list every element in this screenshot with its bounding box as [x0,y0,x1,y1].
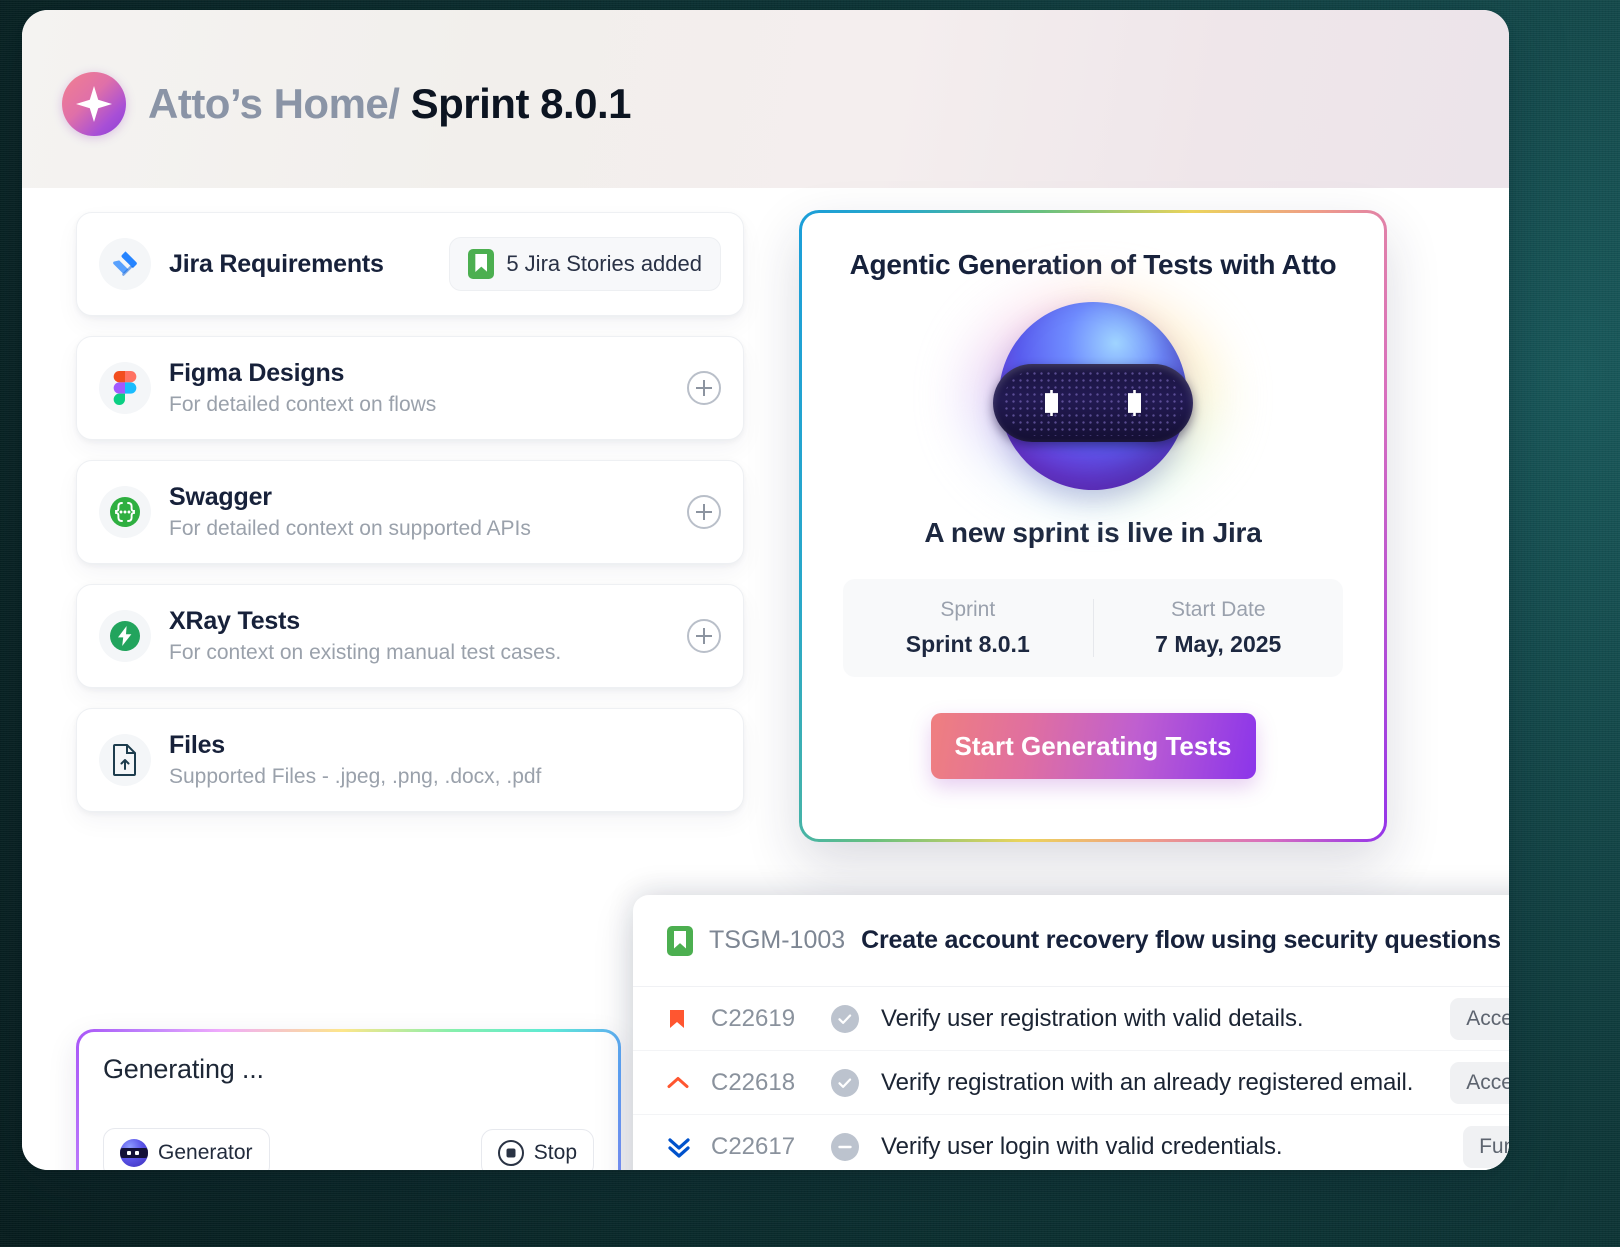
test-case-name: Verify user login with valid credentials… [881,1133,1463,1161]
modal-title: Agentic Generation of Tests with Atto [850,249,1337,281]
check-circle-icon [831,1005,859,1033]
breadcrumb: Atto’s Home/ Sprint 8.0.1 [62,72,631,136]
source-title: Jira Requirements [169,250,449,279]
app-window: Atto’s Home/ Sprint 8.0.1 Jira Requireme… [22,10,1509,1170]
add-swagger-button[interactable] [687,495,721,529]
source-subtitle: For detailed context on flows [169,393,673,417]
priority-high-icon [667,1075,711,1091]
agent-selector-chip[interactable]: Generator [103,1128,270,1170]
priority-low-icon [667,1136,711,1158]
source-card-swagger[interactable]: Swagger For detailed context on supporte… [76,460,744,564]
test-case-id: C22619 [711,1005,831,1033]
source-text: Jira Requirements [169,250,449,279]
table-row[interactable]: C22617 Verify user login with valid cred… [633,1115,1509,1170]
test-type-tag: Functional [1463,1126,1509,1168]
story-key: TSGM-1003 [709,926,845,955]
tests-panel-header: TSGM-1003 Create account recovery flow u… [633,895,1509,987]
generation-composer: Generating ... Generator Stop [76,1029,621,1170]
add-figma-button[interactable] [687,371,721,405]
jira-icon [99,238,151,290]
source-list: Jira Requirements 5 Jira Stories added [76,212,744,812]
sprint-field: Sprint Sprint 8.0.1 [843,598,1093,658]
source-subtitle: For detailed context on supported APIs [169,517,673,541]
source-card-xray[interactable]: XRay Tests For context on existing manua… [76,584,744,688]
test-case-id: C22617 [711,1133,831,1161]
test-case-name: Verify user registration with valid deta… [881,1005,1450,1033]
sparkle-icon [62,72,126,136]
start-date-label: Start Date [1094,598,1344,622]
generation-status-text: Generating ... [103,1054,594,1085]
source-text: XRay Tests For context on existing manua… [169,607,673,665]
table-row[interactable]: C22619 Verify user registration with val… [633,987,1509,1051]
source-title: Figma Designs [169,359,673,388]
jira-stories-badge[interactable]: 5 Jira Stories added [449,237,721,291]
status-badge [831,1005,881,1033]
test-type-tag: Acceptance [1450,1062,1509,1104]
source-card-jira[interactable]: Jira Requirements 5 Jira Stories added [76,212,744,316]
status-badge [831,1133,881,1161]
figma-icon [99,362,151,414]
source-text: Swagger For detailed context on supporte… [169,483,673,541]
robot-eye-left [1045,390,1058,416]
test-case-id: C22618 [711,1069,831,1097]
sprint-info-box: Sprint Sprint 8.0.1 Start Date 7 May, 20… [843,579,1343,677]
robot-head [999,302,1187,490]
atto-robot-icon [943,291,1243,501]
app-header: Atto’s Home/ Sprint 8.0.1 [22,10,1509,188]
agentic-generation-modal: Agentic Generation of Tests with Atto A … [799,210,1387,842]
stop-circle-icon [498,1140,524,1166]
test-case-name: Verify registration with an already regi… [881,1069,1450,1097]
minus-circle-icon [831,1133,859,1161]
sprint-field-label: Sprint [843,598,1093,622]
source-title: Files [169,731,721,760]
check-circle-icon [831,1069,859,1097]
source-card-figma[interactable]: Figma Designs For detailed context on fl… [76,336,744,440]
robot-eye-right [1128,390,1141,416]
status-badge [831,1069,881,1097]
jira-bookmark-icon [667,926,693,956]
source-card-files[interactable]: Files Supported Files - .jpeg, .png, .do… [76,708,744,812]
source-subtitle: For context on existing manual test case… [169,641,673,665]
modal-inner: Agentic Generation of Tests with Atto A … [802,213,1384,839]
start-date-field: Start Date 7 May, 2025 [1094,598,1344,658]
priority-highest-icon [667,1008,711,1030]
jira-bookmark-icon [468,249,494,279]
composer-inner: Generating ... Generator Stop [79,1032,618,1170]
composer-footer: Generator Stop [103,1128,594,1170]
story-title: Create account recovery flow using secur… [861,926,1501,955]
breadcrumb-current: Sprint 8.0.1 [411,80,631,127]
test-type-tag: Acceptance [1450,998,1509,1040]
start-date-value: 7 May, 2025 [1094,631,1344,658]
source-title: XRay Tests [169,607,673,636]
breadcrumb-home[interactable]: Atto’s Home/ [148,80,411,127]
xray-icon [99,610,151,662]
sprint-field-value: Sprint 8.0.1 [843,631,1093,658]
generated-tests-panel: TSGM-1003 Create account recovery flow u… [633,895,1509,1170]
source-subtitle: Supported Files - .jpeg, .png, .docx, .p… [169,765,721,789]
modal-subtitle: A new sprint is live in Jira [924,517,1261,549]
source-text: Figma Designs For detailed context on fl… [169,359,673,417]
table-row[interactable]: C22618 Verify registration with an alrea… [633,1051,1509,1115]
robot-visor [993,364,1193,442]
file-upload-icon [99,734,151,786]
robot-avatar-icon [120,1139,148,1167]
add-xray-button[interactable] [687,619,721,653]
stop-button-label: Stop [534,1141,577,1165]
swagger-icon [99,486,151,538]
agent-selector-label: Generator [158,1141,253,1165]
source-text: Files Supported Files - .jpeg, .png, .do… [169,731,721,789]
jira-stories-badge-label: 5 Jira Stories added [506,251,702,277]
app-body: Jira Requirements 5 Jira Stories added [22,188,1509,1170]
stop-button[interactable]: Stop [481,1129,594,1170]
start-generating-tests-button[interactable]: Start Generating Tests [931,713,1256,779]
source-title: Swagger [169,483,673,512]
page-title: Atto’s Home/ Sprint 8.0.1 [148,80,631,128]
